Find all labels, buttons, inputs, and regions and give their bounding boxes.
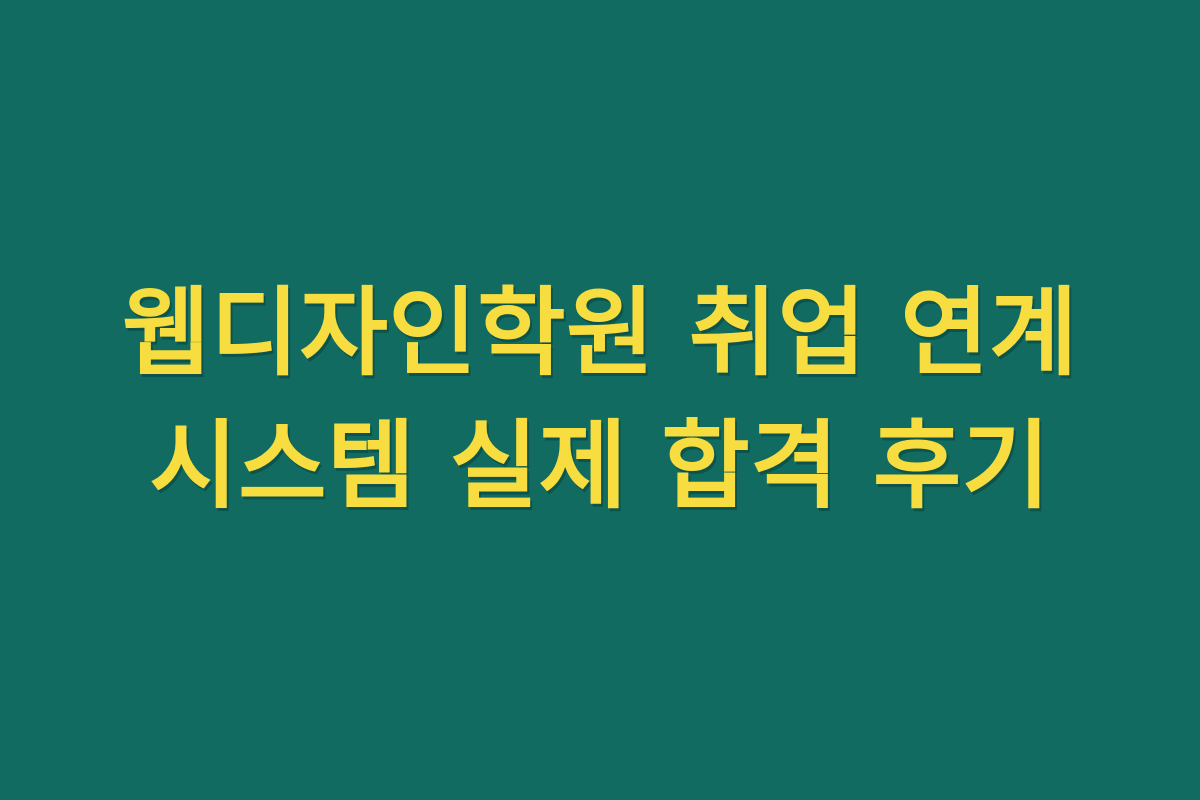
- headline-block: 웹디자인학원 취업 연계 시스템 실제 합격 후기: [50, 275, 1150, 525]
- headline-line-2: 시스템 실제 합격 후기: [50, 408, 1150, 525]
- headline-line-1: 웹디자인학원 취업 연계: [50, 275, 1150, 392]
- promo-banner: 웹디자인학원 취업 연계 시스템 실제 합격 후기: [0, 0, 1200, 800]
